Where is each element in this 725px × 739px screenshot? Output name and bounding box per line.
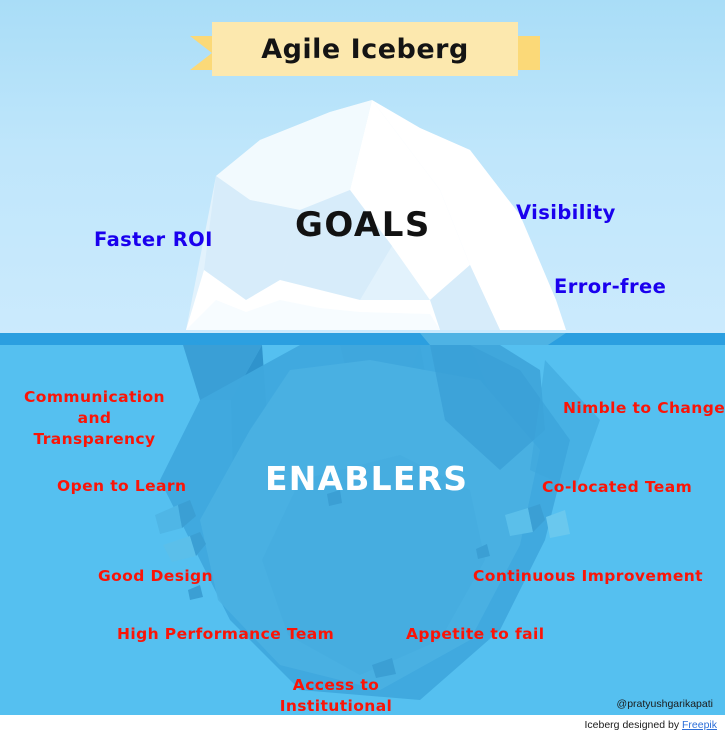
enabler-label-communication-and-transparency: Communication and Transparency <box>22 387 167 450</box>
banner-title-text: Agile Iceberg <box>190 22 540 76</box>
enablers-heading: ENABLERS <box>265 459 468 498</box>
agile-iceberg-infographic: Agile Iceberg GOALS ENABLERS Faster ROI … <box>0 0 725 739</box>
enabler-label-continuous-improvement: Continuous Improvement <box>473 566 657 587</box>
attribution-text: Iceberg designed by Freepik <box>585 719 718 731</box>
enabler-label-high-performance-team: High Performance Team <box>117 624 299 645</box>
goals-heading: GOALS <box>295 205 431 245</box>
freepik-link[interactable]: Freepik <box>682 719 717 731</box>
goal-label-faster-roi: Faster ROI <box>94 228 213 251</box>
attribution-prefix: Iceberg designed by <box>585 719 682 731</box>
enabler-label-nimble-to-change: Nimble to Change <box>563 398 693 419</box>
goal-label-error-free: Error-free <box>554 275 666 298</box>
goal-label-visibility: Visibility <box>516 201 616 224</box>
iceberg-underwater <box>155 345 600 700</box>
iceberg-illustration <box>0 0 725 739</box>
author-handle: @pratyushgarikapati <box>617 698 713 710</box>
enabler-label-good-design: Good Design <box>98 566 193 587</box>
enabler-label-appetite-to-fail: Appetite to fail <box>406 624 528 645</box>
enabler-label-open-to-learn: Open to Learn <box>57 476 165 497</box>
title-banner: Agile Iceberg <box>190 22 540 76</box>
enabler-label-co-located-team: Co-located Team <box>542 477 668 498</box>
